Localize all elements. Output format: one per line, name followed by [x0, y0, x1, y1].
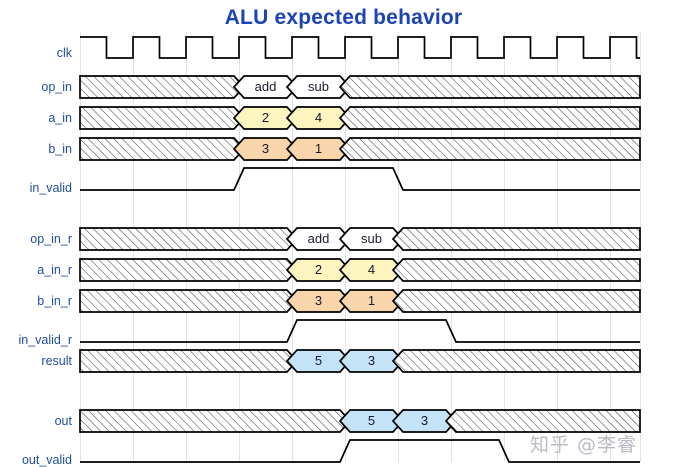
signal-trace-b_in — [80, 138, 640, 160]
bus-unknown-segment — [80, 138, 244, 160]
bus-unknown-segment — [446, 410, 640, 432]
signal-trace-clk — [80, 37, 640, 58]
bus-value: 4 — [292, 110, 345, 125]
signal-trace-in_valid — [80, 168, 640, 190]
bus-value: 5 — [345, 413, 398, 428]
logic-waveform — [80, 168, 640, 190]
bus-value: 5 — [292, 353, 345, 368]
bus-value: add — [239, 79, 292, 94]
bus-unknown-segment — [340, 138, 640, 160]
timing-diagram: ALU expected behavior clkop_ina_inb_inin… — [0, 0, 687, 467]
bus-unknown-segment — [80, 410, 350, 432]
bus-value: 4 — [345, 262, 398, 277]
signal-label-op_in_r: op_in_r — [0, 232, 72, 246]
signal-label-result: result — [0, 354, 72, 368]
signal-label-op_in: op_in — [0, 80, 72, 94]
bus-value: 3 — [239, 141, 292, 156]
bus-value: 3 — [292, 293, 345, 308]
bus-unknown-segment — [393, 290, 640, 312]
bus-unknown-segment — [80, 76, 244, 98]
signal-trace-op_in — [80, 76, 640, 98]
bus-unknown-segment — [80, 107, 244, 129]
signal-label-in_valid_r: in_valid_r — [0, 333, 72, 347]
bus-value: 2 — [239, 110, 292, 125]
bus-value: 1 — [292, 141, 345, 156]
bus-value: 2 — [292, 262, 345, 277]
signal-label-in_valid: in_valid — [0, 181, 72, 195]
signal-label-b_in: b_in — [0, 142, 72, 156]
bus-value: add — [292, 231, 345, 246]
bus-unknown-segment — [80, 290, 297, 312]
bus-unknown-segment — [393, 350, 640, 372]
bus-value: sub — [345, 231, 398, 246]
bus-unknown-segment — [80, 350, 297, 372]
bus-unknown-segment — [340, 76, 640, 98]
bus-unknown-segment — [393, 228, 640, 250]
signal-trace-a_in — [80, 107, 640, 129]
signal-label-out: out — [0, 414, 72, 428]
watermark: 知乎 @李睿 — [530, 430, 637, 457]
waveform-traces — [80, 37, 640, 462]
clock-waveform — [80, 37, 640, 58]
signal-trace-in_valid_r — [80, 320, 640, 342]
bus-unknown-segment — [393, 259, 640, 281]
bus-value: 3 — [398, 413, 451, 428]
signal-label-b_in_r: b_in_r — [0, 294, 72, 308]
signal-label-clk: clk — [0, 46, 72, 60]
bus-value: 1 — [345, 293, 398, 308]
bus-value: sub — [292, 79, 345, 94]
logic-waveform — [80, 320, 640, 342]
bus-value: 3 — [345, 353, 398, 368]
bus-unknown-segment — [80, 228, 297, 250]
signal-label-a_in: a_in — [0, 111, 72, 125]
bus-unknown-segment — [340, 107, 640, 129]
signal-label-a_in_r: a_in_r — [0, 263, 72, 277]
bus-unknown-segment — [80, 259, 297, 281]
signal-label-out_valid: out_valid — [0, 453, 72, 467]
